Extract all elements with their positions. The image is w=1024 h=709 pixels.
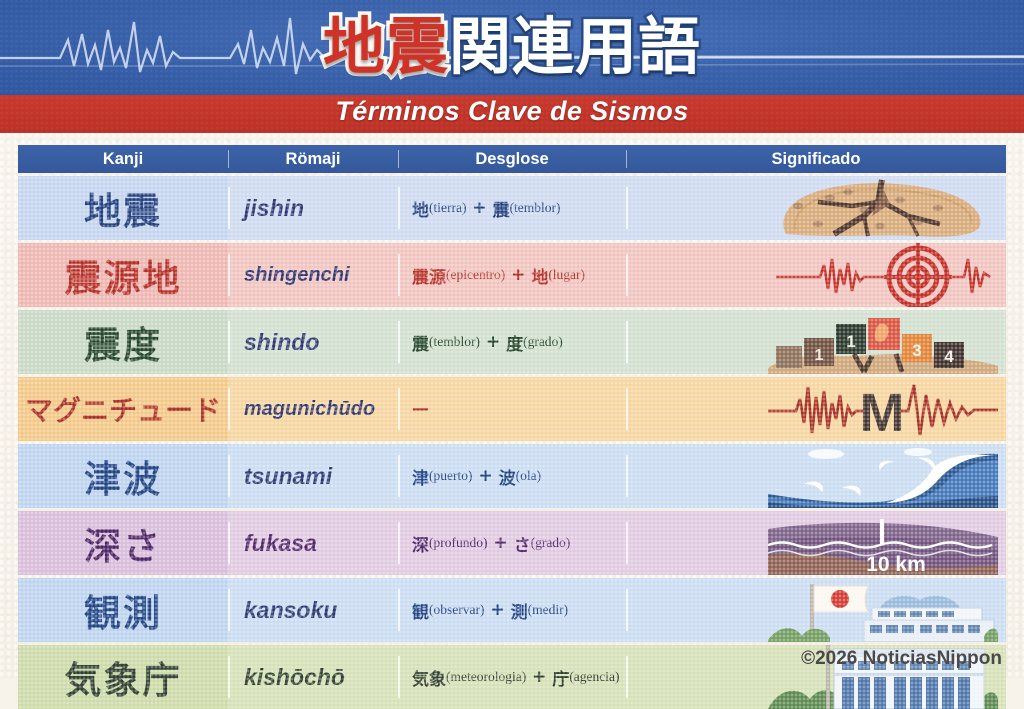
cell-desglose: 震(temblor) + 度(grado)	[398, 310, 626, 374]
cell-kanji: 観測	[18, 578, 228, 642]
cell-kanji: 震度	[18, 310, 228, 374]
terms-table: Kanji Römaji Desglose Significado 地震jish…	[18, 145, 1006, 709]
copyright-credit: ©2026 NoticiasNippon	[801, 648, 1002, 670]
svg-text:1: 1	[815, 347, 824, 364]
page-subtitle: Términos Clave de Sismos	[0, 96, 1024, 127]
observatory-flag-icon	[768, 578, 998, 642]
cell-romaji: jishin	[228, 176, 398, 240]
cell-kanji: 津波	[18, 444, 228, 508]
cell-kanji: 気象庁	[18, 645, 228, 709]
cell-romaji: shindo	[228, 310, 398, 374]
tsunami-wave-icon	[768, 444, 998, 508]
cell-desglose: 観(observar) + 測(medir)	[398, 578, 626, 642]
magnitude-m-waveform-icon: M	[768, 377, 998, 441]
cell-kanji: 地震	[18, 176, 228, 240]
cell-romaji: shingenchi	[228, 243, 398, 307]
cell-kanji: 震源地	[18, 243, 228, 307]
table-row: 深さfukasa深(profundo) + さ(grado) 10 km	[18, 511, 1006, 575]
svg-text:10 km: 10 km	[866, 553, 926, 575]
cell-desglose: 深(profundo) + さ(grado)	[398, 511, 626, 575]
table-body: 地震jishin地(tierra) + 震(temblor) 震源地shinge…	[18, 176, 1006, 709]
cell-kanji: マグニチュード	[18, 377, 228, 441]
table-row: 震度shindo震(temblor) + 度(grado) 1 1 3 4	[18, 310, 1006, 374]
shindo-scale-blocks-icon: 1 1 3 4	[768, 310, 998, 374]
table-row: 地震jishin地(tierra) + 震(temblor)	[18, 176, 1006, 240]
column-header-kanji: Kanji	[18, 145, 228, 173]
cell-romaji: kansoku	[228, 578, 398, 642]
cell-significado: M	[626, 377, 1006, 441]
cell-significado: 10 km	[626, 511, 1006, 575]
header-banner: 地震関連用語 Términos Clave de Sismos	[0, 0, 1024, 133]
title-kanji-white: 関連用語	[449, 10, 701, 83]
cell-significado	[626, 176, 1006, 240]
cell-desglose: 震源(epicentro) + 地(lugar)	[398, 243, 626, 307]
cell-significado: 1 1 3 4	[626, 310, 1006, 374]
table-row: 震源地shingenchi震源(epicentro) + 地(lugar)	[18, 243, 1006, 307]
cell-desglose: —	[398, 377, 626, 441]
epicenter-target-icon	[768, 243, 998, 307]
cell-desglose: 地(tierra) + 震(temblor)	[398, 176, 626, 240]
cell-significado	[626, 444, 1006, 508]
table-row: 津波tsunami津(puerto) + 波(ola)	[18, 444, 1006, 508]
column-header-desglose: Desglose	[398, 145, 626, 173]
svg-text:M: M	[860, 383, 905, 441]
cell-romaji: kishōchō	[228, 645, 398, 709]
cell-romaji: fukasa	[228, 511, 398, 575]
column-header-romaji: Römaji	[228, 145, 398, 173]
cell-romaji: magunichūdo	[228, 377, 398, 441]
page-title: 地震関連用語	[0, 8, 1024, 86]
cell-desglose: 気象(meteorologia) + 庁(agencia)	[398, 645, 626, 709]
svg-text:4: 4	[944, 347, 954, 366]
cell-kanji: 深さ	[18, 511, 228, 575]
cracked-earth-icon	[768, 176, 998, 240]
svg-text:1: 1	[846, 332, 855, 351]
cell-romaji: tsunami	[228, 444, 398, 508]
table-header-row: Kanji Römaji Desglose Significado	[18, 145, 1006, 173]
depth-cross-section-icon: 10 km	[768, 511, 998, 575]
column-header-significado: Significado	[626, 145, 1006, 173]
table-row: マグニチュードmagunichūdo— M	[18, 377, 1006, 441]
cell-significado	[626, 578, 1006, 642]
title-kanji-red: 地震	[323, 10, 449, 83]
table-row: 観測kansoku観(observar) + 測(medir)	[18, 578, 1006, 642]
cell-desglose: 津(puerto) + 波(ola)	[398, 444, 626, 508]
svg-text:3: 3	[912, 341, 921, 360]
cell-significado	[626, 243, 1006, 307]
